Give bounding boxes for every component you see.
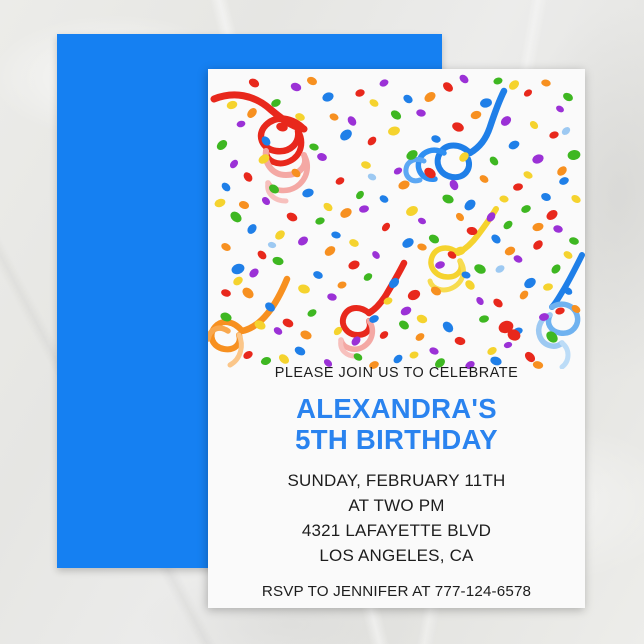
- invitation-headline: ALEXANDRA'S 5TH BIRTHDAY: [208, 394, 585, 456]
- event-time: AT TWO PM: [208, 494, 585, 519]
- confetti-and-streamers-artwork: [208, 69, 585, 369]
- rsvp-line: RSVP TO JENNIFER AT 777-124-6578: [208, 583, 585, 600]
- event-date: SUNDAY, FEBRUARY 11TH: [208, 469, 585, 494]
- invitation-intro-line: PLEASE JOIN US TO CELEBRATE: [208, 365, 585, 381]
- invitation-front-card: PLEASE JOIN US TO CELEBRATE ALEXANDRA'S …: [208, 69, 585, 608]
- invitation-text-block: PLEASE JOIN US TO CELEBRATE ALEXANDRA'S …: [208, 365, 585, 600]
- occasion-line: 5TH BIRTHDAY: [208, 425, 585, 456]
- event-address-line-2: LOS ANGELES, CA: [208, 544, 585, 569]
- event-address-line-1: 4321 LAFAYETTE BLVD: [208, 519, 585, 544]
- honoree-name: ALEXANDRA'S: [208, 394, 585, 425]
